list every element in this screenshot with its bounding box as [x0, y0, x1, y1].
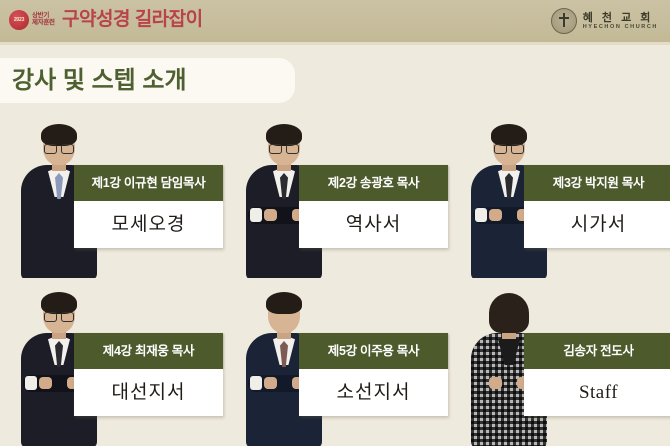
speaker-subject: 모세오경 — [112, 213, 186, 237]
speaker-row-1: 제1강 이규현 담임목사 모세오경 — [0, 118, 670, 278]
speaker-name: 김송자 전도사 — [563, 343, 633, 359]
church-emblem-icon — [551, 8, 577, 34]
speaker-subject-box: 시가서 — [524, 201, 670, 248]
section-title-banner: 강사 및 스텝 소개 — [0, 58, 295, 103]
speaker-name-bar: 김송자 전도사 — [524, 333, 670, 369]
church-name-korean: 혜 천 교 회 — [583, 12, 658, 24]
portrait-cuff-left — [475, 208, 487, 222]
portrait-hand-left — [489, 209, 502, 221]
brand-seal-icon: 2023 — [9, 10, 29, 30]
speaker-card[interactable]: 제2강 송광호 목사 역사서 — [233, 118, 448, 278]
speaker-card[interactable]: 제3강 박지원 목사 시가서 — [458, 118, 670, 278]
section-title-text: 강사 및 스텝 소개 — [12, 65, 187, 96]
brand-line-2: 제자훈련 — [32, 20, 55, 27]
speaker-name-bar: 제5강 이주용 목사 — [299, 333, 448, 369]
portrait-hair — [266, 292, 302, 314]
portrait-hair — [266, 124, 302, 146]
church-names: 혜 천 교 회 HYECHON CHURCH — [583, 12, 658, 30]
speaker-card[interactable]: 제4강 최재웅 목사 대선지서 — [8, 286, 223, 446]
speaker-name: 제5강 이주용 목사 — [328, 343, 419, 359]
header-title: 구약성경 길라잡이 — [62, 7, 203, 33]
speaker-name: 제4강 최재웅 목사 — [103, 343, 194, 359]
portrait-hair — [489, 293, 529, 333]
course-brand-logo: 2023 상반기 제자훈련 — [9, 9, 57, 31]
speaker-subject-box: 역사서 — [299, 201, 448, 248]
speaker-subject-box: 소선지서 — [299, 369, 448, 416]
speaker-name-bar: 제1강 이규현 담임목사 — [74, 165, 223, 201]
glasses-icon — [44, 144, 74, 153]
speaker-name: 제3강 박지원 목사 — [553, 175, 644, 191]
portrait-cuff-left — [25, 376, 37, 390]
speaker-subject: Staff — [579, 381, 618, 405]
portrait-hand-left — [264, 377, 277, 389]
speaker-row-2: 제4강 최재웅 목사 대선지서 — [0, 286, 670, 446]
speaker-subject: 소선지서 — [337, 381, 411, 405]
glasses-icon — [494, 144, 524, 153]
portrait-hair — [41, 124, 77, 146]
speaker-subject-box: 모세오경 — [74, 201, 223, 248]
church-name-english: HYECHON CHURCH — [583, 24, 658, 30]
speaker-subject: 역사서 — [346, 213, 401, 237]
portrait-hair — [491, 124, 527, 146]
church-mark: 혜 천 교 회 HYECHON CHURCH — [551, 8, 658, 34]
glasses-icon — [44, 312, 74, 321]
portrait-hand-left — [489, 377, 502, 389]
speaker-card-grid: 제1강 이규현 담임목사 모세오경 — [0, 118, 670, 446]
header-band: 2023 상반기 제자훈련 구약성경 길라잡이 혜 천 교 회 HYECHON … — [0, 0, 670, 43]
speaker-card[interactable]: 김송자 전도사 Staff — [458, 286, 670, 446]
speaker-name-bar: 제4강 최재웅 목사 — [74, 333, 223, 369]
speaker-subject: 시가서 — [571, 213, 626, 237]
speaker-subject: 대선지서 — [112, 381, 186, 405]
slide-root: 2023 상반기 제자훈련 구약성경 길라잡이 혜 천 교 회 HYECHON … — [0, 0, 670, 446]
portrait-cuff-left — [250, 376, 262, 390]
portrait-hand-left — [264, 209, 277, 221]
speaker-name: 제2강 송광호 목사 — [328, 175, 419, 191]
brand-wordmark: 상반기 제자훈련 — [32, 13, 55, 27]
speaker-subject-box: 대선지서 — [74, 369, 223, 416]
speaker-card[interactable]: 제1강 이규현 담임목사 모세오경 — [8, 118, 223, 278]
speaker-card[interactable]: 제5강 이주용 목사 소선지서 — [233, 286, 448, 446]
speaker-name-bar: 제2강 송광호 목사 — [299, 165, 448, 201]
speaker-name-bar: 제3강 박지원 목사 — [524, 165, 670, 201]
portrait-cuff-left — [250, 208, 262, 222]
portrait-hair — [41, 292, 77, 314]
portrait-hand-left — [39, 377, 52, 389]
speaker-subject-box: Staff — [524, 369, 670, 416]
glasses-icon — [269, 144, 299, 153]
speaker-name: 제1강 이규현 담임목사 — [92, 175, 206, 191]
